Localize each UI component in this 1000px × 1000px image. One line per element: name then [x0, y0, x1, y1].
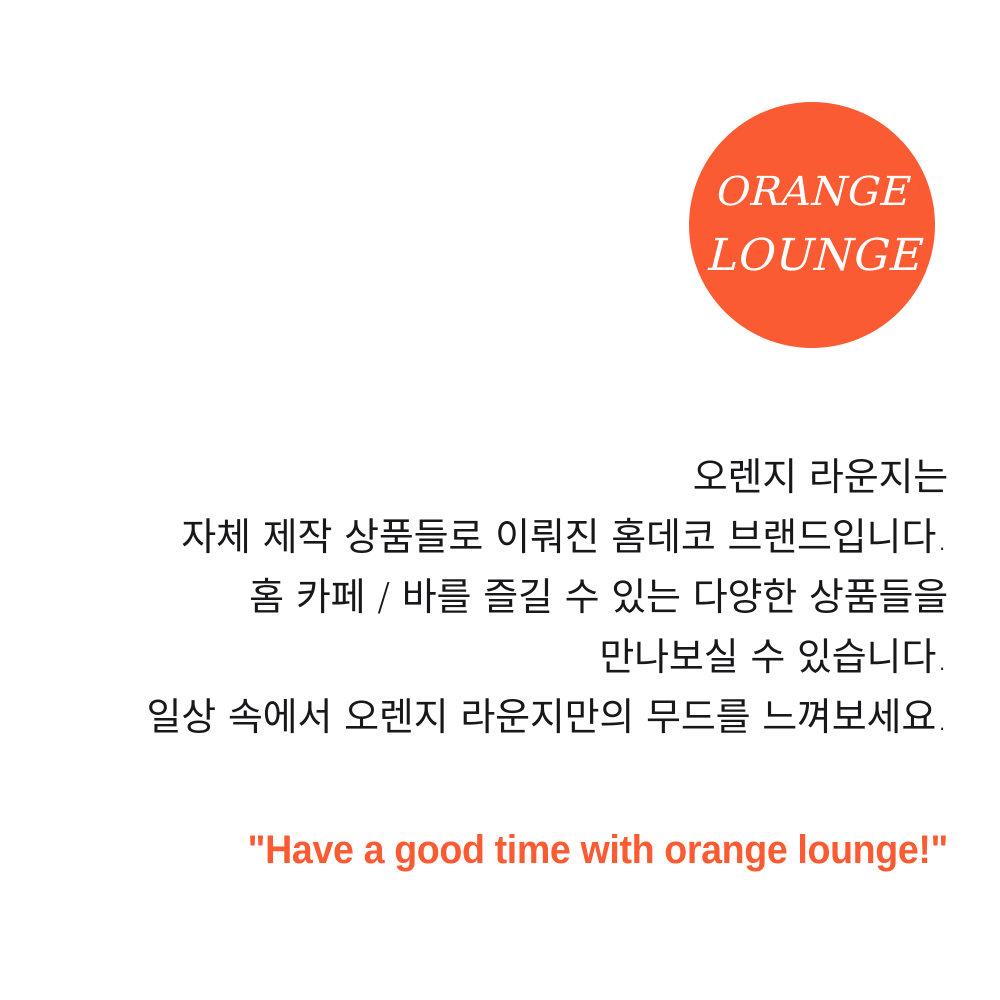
description-line-2: 자체 제작 상품들로 이뤄진 홈데코 브랜드입니다. — [60, 507, 948, 567]
brand-description: 오렌지 라운지는 자체 제작 상품들로 이뤄진 홈데코 브랜드입니다. 홈 카페… — [60, 447, 948, 747]
description-line-1: 오렌지 라운지는 — [60, 447, 948, 507]
description-line-5: 일상 속에서 오렌지 라운지만의 무드를 느껴보세요. — [60, 687, 948, 747]
brand-tagline: "Have a good time with orange lounge!" — [113, 826, 948, 874]
brand-intro-card: ORANGE LOUNGE 오렌지 라운지는 자체 제작 상품들로 이뤄진 홈데… — [0, 0, 1000, 1000]
description-line-4: 만나보실 수 있습니다. — [60, 627, 948, 687]
logo-wordmark-line-1: ORANGE — [716, 172, 912, 212]
logo-wordmark-line-2: LOUNGE — [707, 234, 924, 278]
description-line-3: 홈 카페 / 바를 즐길 수 있는 다양한 상품들을 — [60, 567, 948, 627]
orange-lounge-logo-badge: ORANGE LOUNGE — [689, 102, 935, 348]
